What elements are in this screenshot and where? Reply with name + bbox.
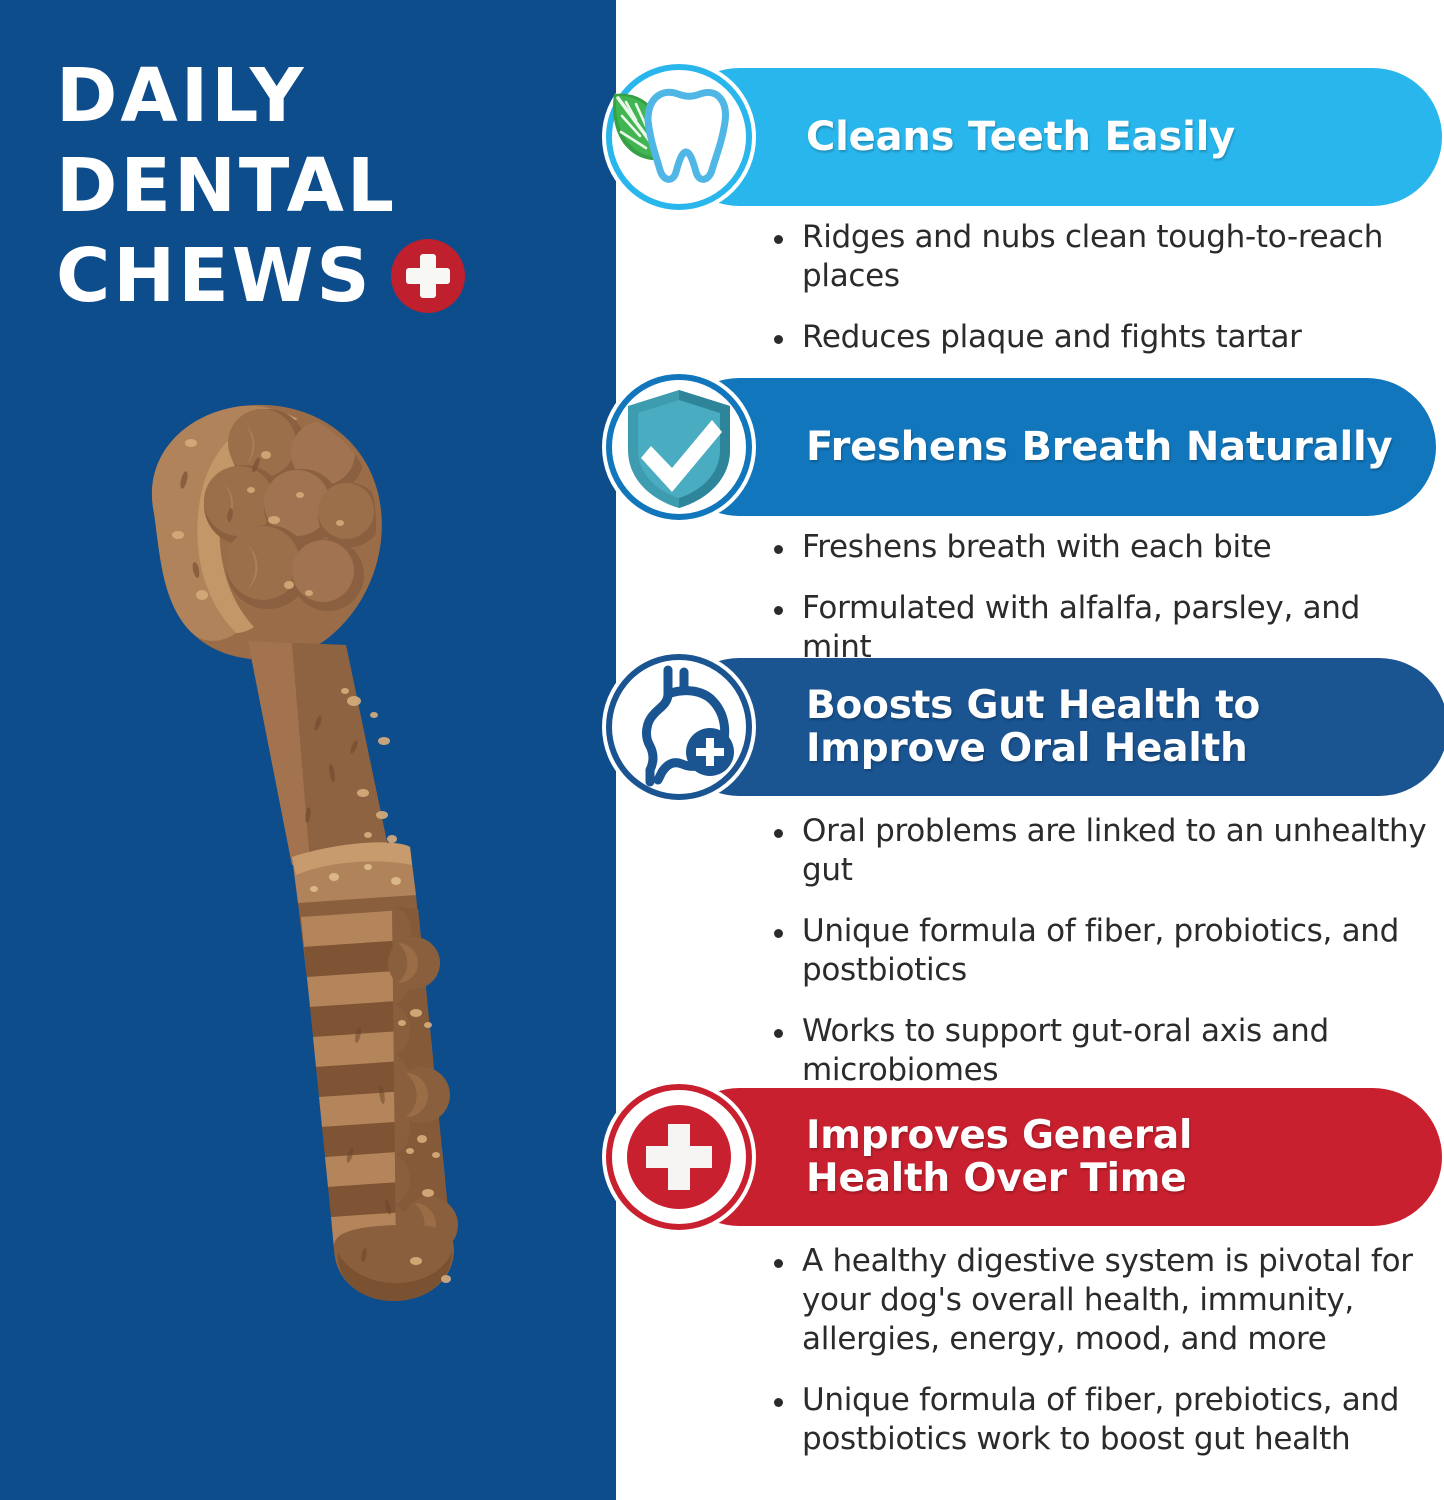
medical-cross-circle-icon	[602, 1080, 756, 1234]
tooth-icon-svg	[606, 64, 752, 210]
tooth-mint-leaf-icon	[602, 60, 756, 214]
chew-ridged-body	[298, 895, 458, 1301]
dental-chew-illustration	[96, 395, 516, 1395]
features-panel: Cleans Teeth Easily Ridges and nubs clea…	[616, 0, 1444, 1500]
feature-banner-2: Freshens Breath Naturally	[670, 378, 1436, 516]
feature-bullets-3: Oral problems are linked to an unhealthy…	[772, 812, 1432, 1112]
feature-banner-4: Improves General Health Over Time	[670, 1088, 1442, 1226]
feature-title-4: Improves General Health Over Time	[806, 1114, 1218, 1200]
bullet-item: Formulated with alfalfa, parsley, and mi…	[772, 589, 1432, 667]
bullet-item: Works to support gut-oral axis and micro…	[772, 1012, 1432, 1090]
infographic-page: DAILY DENTAL CHEWS	[0, 0, 1444, 1500]
feature-title-3-line1: Boosts Gut Health to	[806, 683, 1260, 728]
feature-title-3-line2: Improve Oral Health	[806, 726, 1248, 771]
chew-head	[152, 405, 382, 660]
product-title: DAILY DENTAL CHEWS	[56, 58, 526, 314]
stomach-plus-icon	[602, 650, 756, 804]
title-line-3-row: CHEWS	[56, 238, 526, 314]
feature-title-3: Boosts Gut Health to Improve Oral Health	[806, 684, 1286, 770]
title-line-2: DENTAL	[56, 148, 526, 224]
bullet-item: Reduces plaque and fights tartar	[772, 318, 1432, 357]
bullet-item: Freshens breath with each bite	[772, 528, 1432, 567]
bullet-item: A healthy digestive system is pivotal fo…	[772, 1242, 1432, 1359]
left-brand-panel: DAILY DENTAL CHEWS	[0, 0, 616, 1500]
bullet-item: Unique formula of fiber, probiotics, and…	[772, 912, 1432, 990]
bullet-item: Unique formula of fiber, prebiotics, and…	[772, 1381, 1432, 1459]
chew-svg	[96, 395, 516, 1395]
bullet-item: Ridges and nubs clean tough-to-reach pla…	[772, 218, 1432, 296]
cross-icon-svg	[606, 1084, 752, 1230]
shield-icon-svg	[606, 374, 752, 520]
feature-banner-3: Boosts Gut Health to Improve Oral Health	[670, 658, 1444, 796]
feature-banner-1: Cleans Teeth Easily	[670, 68, 1442, 206]
title-line-1: DAILY	[56, 58, 526, 134]
feature-title-2: Freshens Breath Naturally	[806, 425, 1418, 469]
medical-cross-icon	[391, 239, 465, 313]
feature-title-4-line2: Health Over Time	[806, 1156, 1186, 1201]
feature-bullets-4: A healthy digestive system is pivotal fo…	[772, 1242, 1432, 1481]
shield-check-icon	[602, 370, 756, 524]
feature-bullets-1: Ridges and nubs clean tough-to-reach pla…	[772, 218, 1432, 379]
feature-title-4-line1: Improves General	[806, 1113, 1192, 1158]
bullet-item: Oral problems are linked to an unhealthy…	[772, 812, 1432, 890]
title-line-3: CHEWS	[56, 238, 373, 314]
feature-title-1: Cleans Teeth Easily	[806, 115, 1261, 159]
stomach-icon-svg	[606, 654, 752, 800]
